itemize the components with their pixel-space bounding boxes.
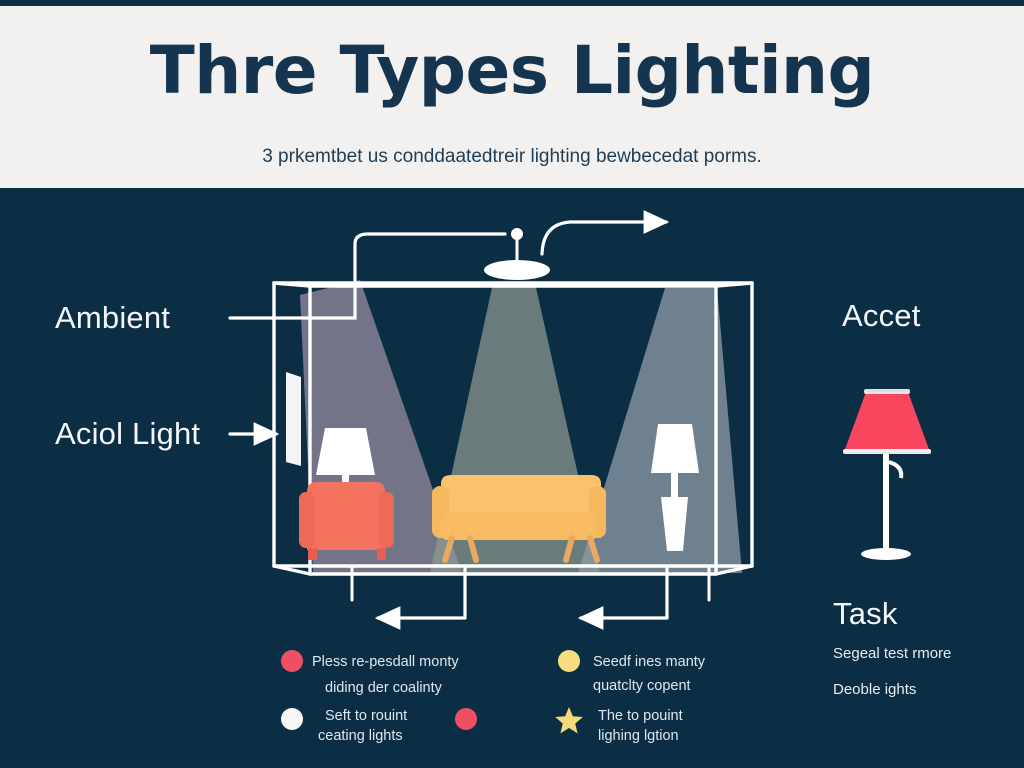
accent-lamp	[843, 389, 931, 560]
legend-item-3-line-2: quatclty copent	[593, 676, 691, 697]
label-ambient: Ambient	[55, 300, 170, 336]
infographic-root: Thre Types Lighting 3 prkemtbet us condd…	[0, 0, 1024, 768]
connector-accent-arrow	[542, 222, 666, 254]
label-aciol-light: Aciol Light	[55, 416, 200, 452]
legend-dot-yellow	[558, 650, 580, 672]
legend-dot-pink-extra	[455, 708, 477, 730]
pendant-light	[484, 228, 550, 280]
accent-lamp-shade	[844, 392, 930, 452]
legend-star-yellow	[555, 707, 583, 733]
legend-item-4-line-2: lighing lgtion	[598, 726, 679, 747]
legend-item-1-line-1: Pless re-pesdall monty	[312, 652, 459, 673]
legend-dot-red	[281, 650, 303, 672]
legend-item-2-line-1: Seft to rouint	[325, 706, 407, 727]
wall-window-panel	[286, 372, 301, 466]
legend-item-2-line-2: ceating lights	[318, 726, 403, 747]
legend-item-3-line-1: Seedf ines manty	[593, 652, 705, 673]
legend-item-1-line-2: diding der coalinty	[325, 678, 442, 699]
task-line-2: Deoble ights	[833, 681, 916, 698]
label-task: Task	[833, 596, 898, 632]
legend-dot-white	[281, 708, 303, 730]
pendant-shade	[484, 260, 550, 280]
armchair	[299, 482, 394, 560]
legend-item-4-line-1: The to pouint	[598, 706, 683, 727]
task-line-1: Segeal test rmore	[833, 645, 951, 662]
label-accent: Accet	[842, 298, 921, 334]
